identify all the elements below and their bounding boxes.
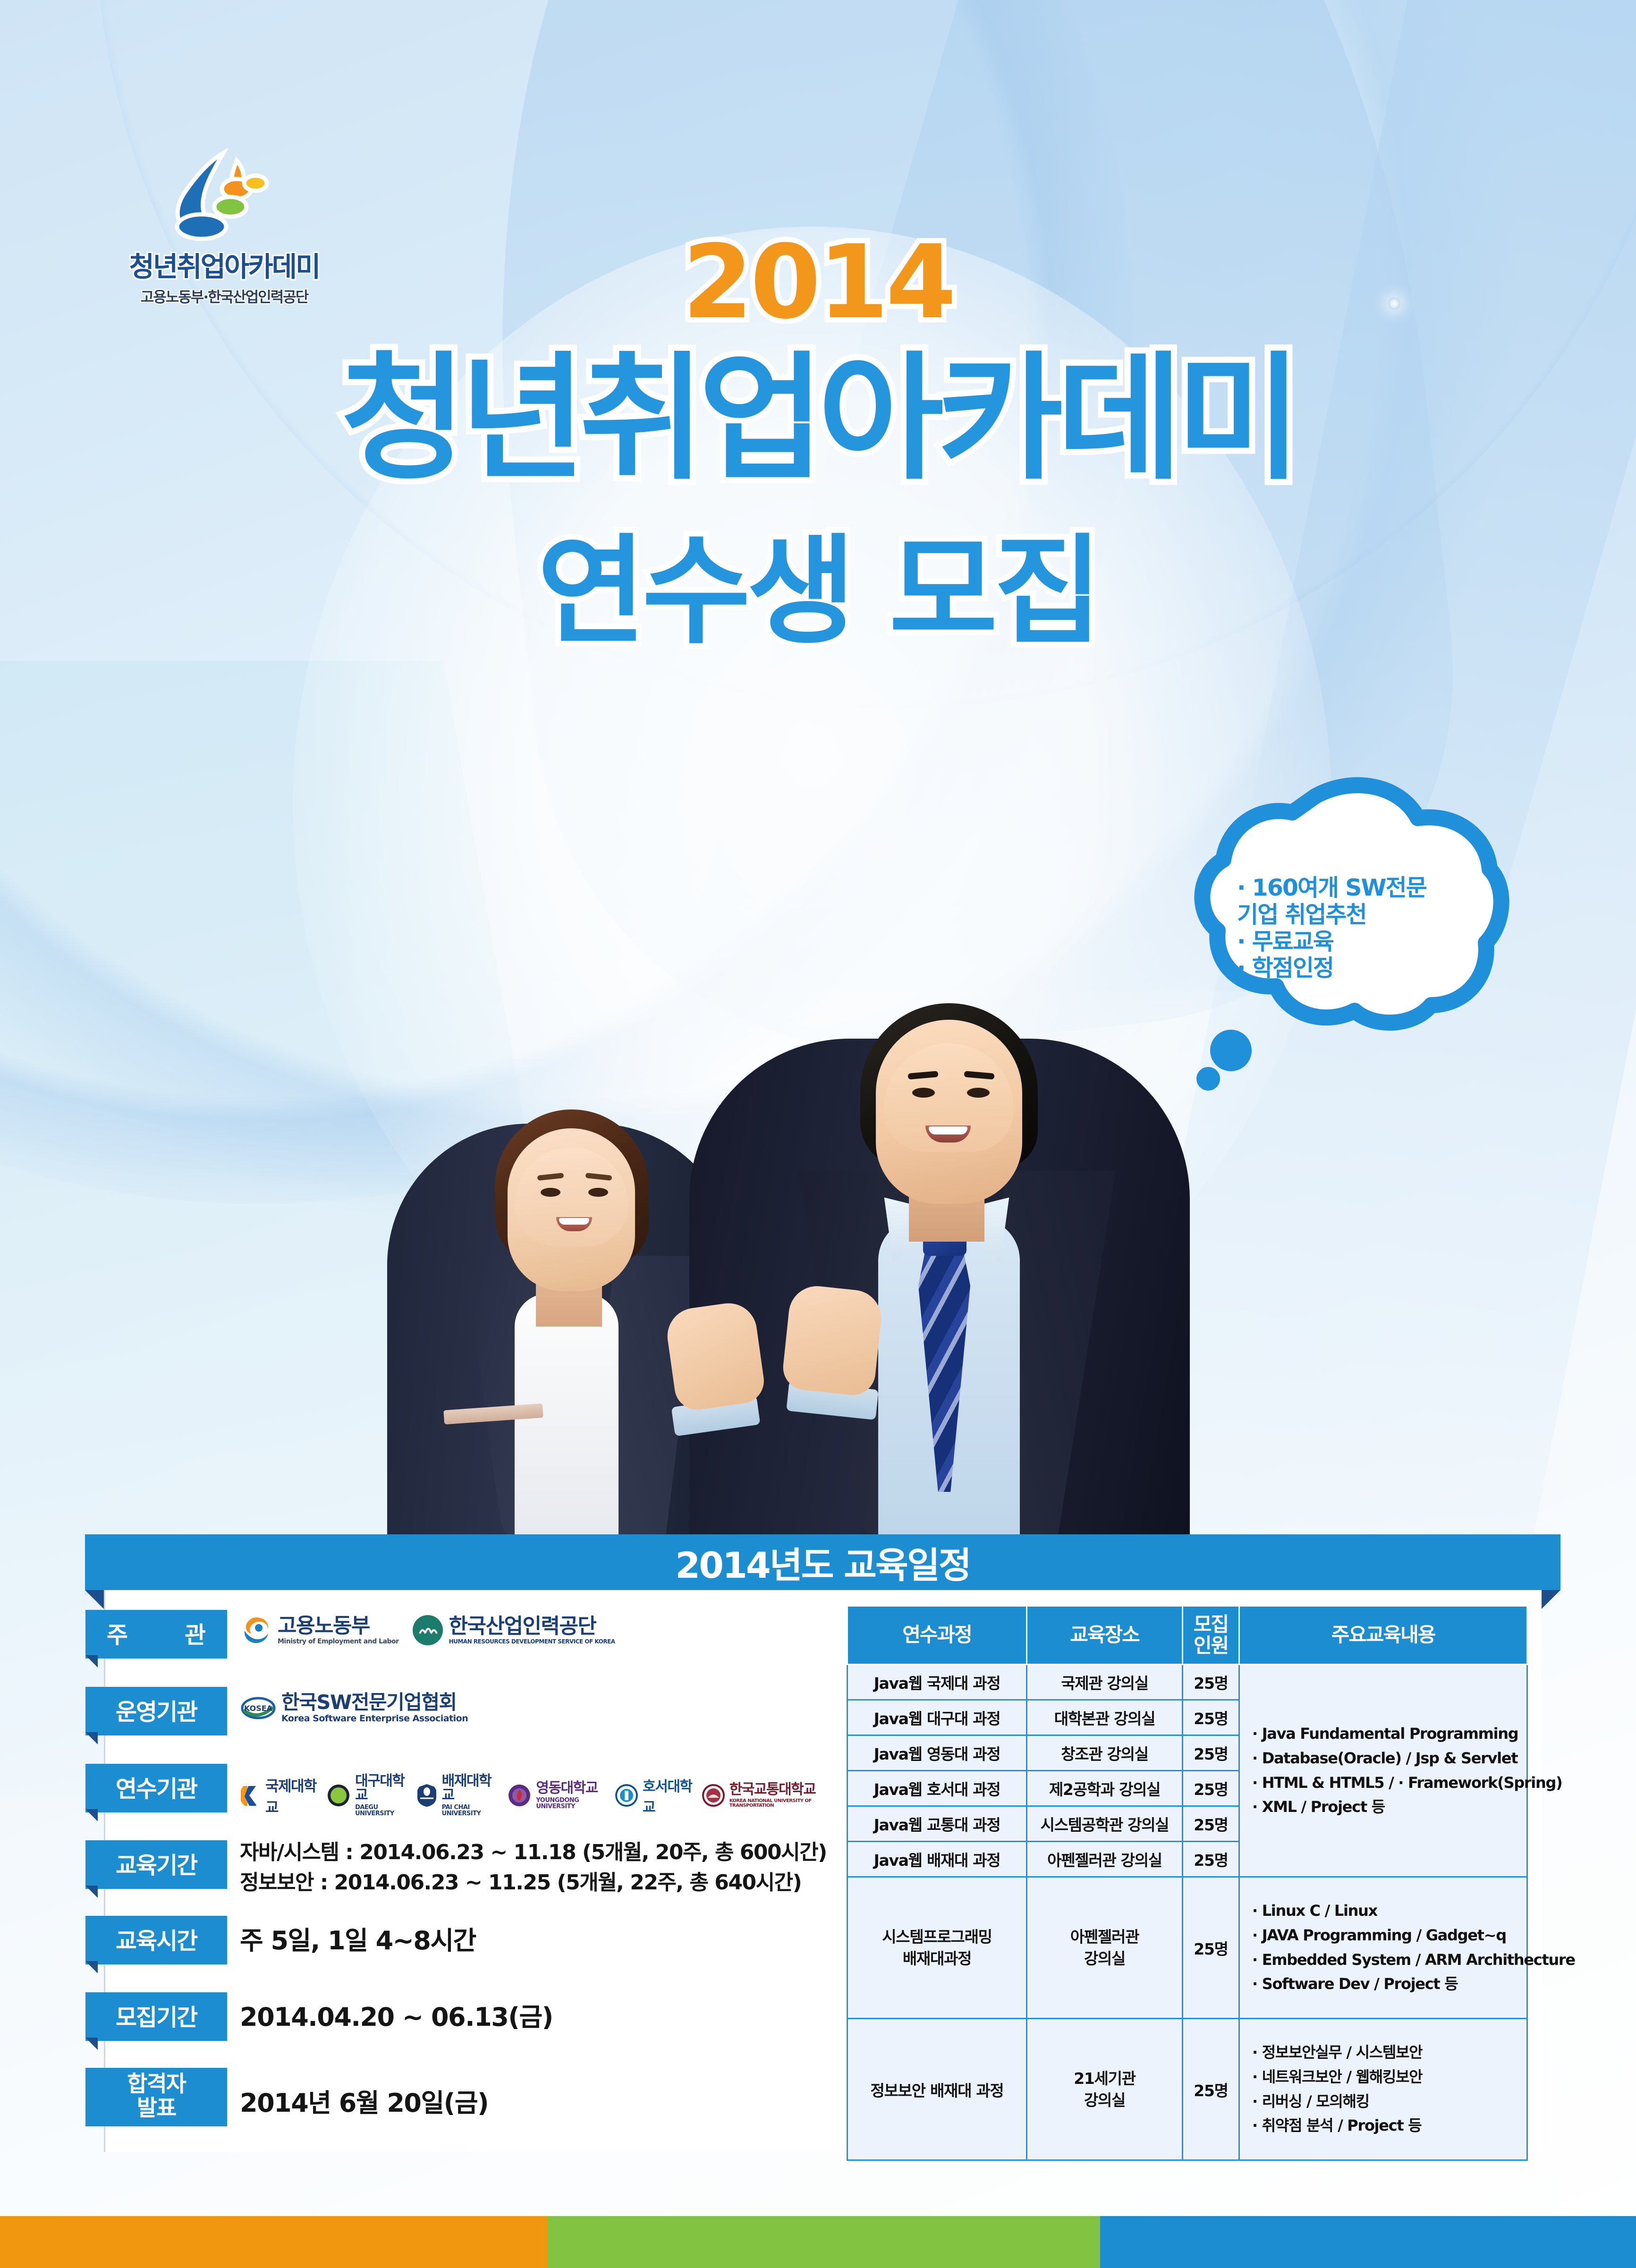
cell-course: Java웹 배재대 과정 xyxy=(848,1842,1027,1877)
people-photo xyxy=(359,727,1237,1549)
table-header-capacity: 모집 인원 xyxy=(1183,1606,1239,1665)
logo-university-3-en: YOUNGDONG UNIVERSITY xyxy=(536,1797,609,1810)
logo-university-5: 한국교통대학교 KOREA NATIONAL UNIVERSITY OF TRA… xyxy=(702,1783,842,1808)
bubble-dot-small xyxy=(1196,1067,1220,1091)
info-label-training-institutions: 연수기관 xyxy=(85,1764,227,1812)
logo-hrdkorea-kr: 한국산업인력공단 xyxy=(449,1616,615,1637)
info-label-host-b: 관 xyxy=(185,1616,206,1650)
cell-course: Java웹 대구대 과정 xyxy=(848,1700,1027,1735)
logo-university-4-kr: 호서대학교 xyxy=(643,1775,695,1816)
system-content-line-4: · Software Dev / Project 등 xyxy=(1252,1972,1523,1997)
system-place-line2: 강의실 xyxy=(1031,1948,1178,1970)
info-label-application-period: 모집기간 xyxy=(85,1992,227,2041)
cell-capacity-security: 25명 xyxy=(1183,2019,1239,2160)
table-row-system: 시스템프로그래밍 배재대과정 아펜젤러관 강의실 25명 · Linux C /… xyxy=(848,1877,1527,2019)
cell-capacity: 25명 xyxy=(1183,1700,1239,1735)
kosea-emblem-icon: KOSEA xyxy=(240,1694,277,1722)
schedule-panel: 주관 고용노동부 Ministry of Employment and Labo… xyxy=(104,1590,1542,2152)
cell-content-security: · 정보보안실무 / 시스템보안 · 네트워크보안 / 웹해킹보안 · 리버싱 … xyxy=(1239,2019,1527,2160)
logo-university-3-kr: 영동대학교 xyxy=(536,1781,609,1795)
cell-place: 아펜젤러관 강의실 xyxy=(1027,1842,1183,1877)
bubble-dot-large xyxy=(1210,1030,1252,1071)
bubble-line-4: · 학점인정 xyxy=(1237,955,1459,982)
cell-content-java: · Java Fundamental Programming · Databas… xyxy=(1239,1665,1527,1877)
kukje-university-emblem-icon xyxy=(240,1783,261,1808)
footer-bar-orange xyxy=(0,2216,548,2268)
logo-kosea-en: Korea Software Enterprise Association xyxy=(281,1714,468,1723)
cell-content-system: · Linux C / Linux · JAVA Programming / G… xyxy=(1239,1877,1527,2019)
system-content-line-2: · JAVA Programming / Gadget~q xyxy=(1252,1923,1523,1948)
logo-university-3: 영동대학교 YOUNGDONG UNIVERSITY xyxy=(508,1781,609,1810)
cell-course-security: 정보보안 배재대 과정 xyxy=(848,2019,1027,2160)
security-content-line-2: · 네트워크보안 / 웹해킹보안 xyxy=(1252,2065,1523,2090)
logo-kosea: KOSEA 한국SW전문기업협회 Korea Software Enterpri… xyxy=(240,1693,468,1723)
cell-place: 국제관 강의실 xyxy=(1027,1665,1183,1700)
thought-bubble: · 160여개 SW전문 기업 취업추천 · 무료교육 · 학점인정 xyxy=(1159,767,1518,1098)
course-table: 연수과정 교육장소 모집 인원 주요교육내용 Java웹 국제대 과정 국제관 … xyxy=(847,1605,1528,2161)
logo-moel-kr: 고용노동부 xyxy=(278,1616,399,1636)
training-period-line-2: 정보보안 : 2014.06.23 ~ 11.25 (5개월, 22주, 총 6… xyxy=(240,1868,827,1898)
info-value-training-hours: 주 5일, 1일 4~8시간 xyxy=(240,1922,476,1959)
security-content-line-3: · 리버싱 / 모의해킹 xyxy=(1252,2090,1523,2114)
info-value-announcement: 2014년 6월 20일(금) xyxy=(240,2085,488,2122)
schedule-banner-title: 2014년도 교육일정 xyxy=(675,1536,970,1588)
info-label-host-a: 주 xyxy=(107,1616,128,1650)
footer-color-bar xyxy=(0,2216,1636,2268)
logo-hrdkorea: 한국산업인력공단 HUMAN RESOURCES DEVELOPMENT SER… xyxy=(411,1614,615,1647)
info-label-announcement-line1: 합격자 xyxy=(85,2073,227,2097)
system-course-line2: 배재대과정 xyxy=(852,1948,1022,1970)
daegu-university-emblem-icon xyxy=(327,1784,350,1807)
bubble-line-1: · 160여개 SW전문 xyxy=(1237,875,1459,902)
cell-place: 제2공학과 강의실 xyxy=(1027,1771,1183,1806)
cell-course: Java웹 호서대 과정 xyxy=(848,1771,1027,1806)
logo-university-2: 배재대학교 PAI CHAI UNIVERSITY xyxy=(416,1774,501,1817)
hrdkorea-emblem-icon xyxy=(411,1614,444,1647)
youngdong-university-emblem-icon xyxy=(508,1784,531,1807)
table-header-course: 연수과정 xyxy=(848,1606,1027,1665)
java-content-line-2: · Database(Oracle) / Jsp & Servlet xyxy=(1252,1746,1523,1771)
java-content-line-3: · HTML & HTML5 / · Framework(Spring) xyxy=(1252,1771,1523,1795)
info-value-application-period: 2014.04.20 ~ 06.13(금) xyxy=(240,1999,553,2036)
java-content-line-1: · Java Fundamental Programming xyxy=(1252,1722,1523,1746)
logo-university-4: 호서대학교 xyxy=(615,1775,695,1816)
footer-bar-green xyxy=(548,2216,1100,2268)
poster-root: 청년취업아카데미 고용노동부·한국산업인력공단 2014 청년취업아카데미 연수… xyxy=(0,0,1636,2268)
cell-capacity: 25명 xyxy=(1183,1735,1239,1771)
info-label-announcement-line2: 발표 xyxy=(85,2097,227,2121)
cell-place: 창조관 강의실 xyxy=(1027,1735,1183,1771)
cell-course-system: 시스템프로그래밍 배재대과정 xyxy=(848,1877,1027,2019)
security-content-line-1: · 정보보안실무 / 시스템보안 xyxy=(1252,2040,1523,2065)
host-logos: 고용노동부 Ministry of Employment and Labor xyxy=(240,1614,615,1647)
table-header-capacity-line2: 인원 xyxy=(1185,1635,1237,1657)
bubble-text: · 160여개 SW전문 기업 취업추천 · 무료교육 · 학점인정 xyxy=(1237,875,1459,982)
table-row-security: 정보보안 배재대 과정 21세기관 강의실 25명 · 정보보안실무 / 시스템… xyxy=(848,2019,1527,2160)
info-label-host: 주관 xyxy=(85,1610,227,1659)
logo-university-2-kr: 배재대학교 xyxy=(442,1774,501,1803)
training-period-line-1: 자바/시스템 : 2014.06.23 ~ 11.18 (5개월, 20주, 총… xyxy=(240,1837,827,1868)
logo-university-5-kr: 한국교통대학교 xyxy=(729,1783,842,1797)
info-label-training-period: 교육기간 xyxy=(85,1840,227,1889)
headline-main: 청년취업아카데미 xyxy=(0,349,1636,489)
paichai-university-emblem-icon xyxy=(416,1783,437,1808)
bubble-line-2: 기업 취업추천 xyxy=(1237,902,1459,929)
logo-university-2-en: PAI CHAI UNIVERSITY xyxy=(442,1804,501,1817)
svg-text:KOSEA: KOSEA xyxy=(244,1704,273,1713)
logo-kosea-kr: 한국SW전문기업협회 xyxy=(281,1693,468,1712)
headline-year: 2014 xyxy=(0,231,1636,333)
cell-place: 시스템공학관 강의실 xyxy=(1027,1806,1183,1842)
table-header-content: 주요교육내용 xyxy=(1239,1606,1527,1665)
logo-university-1-kr: 대구대학교 xyxy=(355,1774,410,1803)
knut-university-emblem-icon xyxy=(702,1784,725,1807)
schedule-banner: 2014년도 교육일정 xyxy=(85,1534,1560,1590)
water-drop-logo-icon xyxy=(144,142,305,241)
moel-emblem-icon xyxy=(240,1614,273,1647)
bubble-line-3: · 무료교육 xyxy=(1237,929,1459,956)
info-label-announcement: 합격자 발표 xyxy=(85,2068,227,2126)
cell-place: 대학본관 강의실 xyxy=(1027,1700,1183,1735)
cell-capacity: 25명 xyxy=(1183,1665,1239,1700)
system-place-line1: 아펜젤러관 xyxy=(1031,1926,1178,1948)
logo-moel: 고용노동부 Ministry of Employment and Labor xyxy=(240,1614,399,1647)
banner-fold-right xyxy=(1542,1590,1560,1609)
cell-course: Java웹 교통대 과정 xyxy=(848,1806,1027,1842)
cell-course: Java웹 영동대 과정 xyxy=(848,1735,1027,1771)
logo-university-0-kr: 국제대학교 xyxy=(265,1774,320,1817)
info-label-operator: 운영기관 xyxy=(85,1687,227,1735)
cell-capacity: 25명 xyxy=(1183,1842,1239,1877)
hoseo-university-emblem-icon xyxy=(615,1784,638,1807)
table-header-row: 연수과정 교육장소 모집 인원 주요교육내용 xyxy=(848,1606,1527,1665)
operator-logos: KOSEA 한국SW전문기업협회 Korea Software Enterpri… xyxy=(240,1693,468,1723)
logo-university-5-en: KOREA NATIONAL UNIVERSITY OF TRANSPORTAT… xyxy=(729,1799,842,1808)
info-value-training-period: 자바/시스템 : 2014.06.23 ~ 11.18 (5개월, 20주, 총… xyxy=(240,1837,827,1898)
java-content-line-4: · XML / Project 등 xyxy=(1252,1795,1523,1819)
logo-university-1-en: DAEGU UNIVERSITY xyxy=(355,1804,410,1817)
cell-course: Java웹 국제대 과정 xyxy=(848,1665,1027,1700)
logo-moel-en: Ministry of Employment and Labor xyxy=(278,1638,399,1645)
security-content-line-4: · 취약점 분석 / Project 등 xyxy=(1252,2114,1523,2138)
logo-university-0: 국제대학교 xyxy=(240,1774,320,1817)
table-header-capacity-line1: 모집 xyxy=(1185,1614,1237,1635)
cell-capacity: 25명 xyxy=(1183,1806,1239,1842)
system-content-line-1: · Linux C / Linux xyxy=(1252,1899,1523,1923)
info-label-training-hours: 교육시간 xyxy=(85,1916,227,1964)
table-row: Java웹 국제대 과정 국제관 강의실 25명 · Java Fundamen… xyxy=(848,1665,1527,1700)
university-logos: 국제대학교 대구대학교 DAEGU UNIVERSITY xyxy=(240,1774,842,1817)
system-content-line-3: · Embedded System / ARM Archithecture xyxy=(1252,1948,1523,1972)
info-column: 주관 고용노동부 Ministry of Employment and Labo… xyxy=(105,1590,842,2152)
footer-bar-blue xyxy=(1100,2216,1636,2268)
cell-capacity-system: 25명 xyxy=(1183,1877,1239,2019)
cell-capacity: 25명 xyxy=(1183,1771,1239,1806)
cell-place-system: 아펜젤러관 강의실 xyxy=(1027,1877,1183,2019)
system-course-line1: 시스템프로그래밍 xyxy=(852,1926,1022,1948)
banner-fold-left xyxy=(85,1590,104,1609)
cell-place-security: 21세기관 강의실 xyxy=(1027,2019,1183,2160)
headline-sub: 연수생 모집 xyxy=(0,531,1636,652)
logo-university-1: 대구대학교 DAEGU UNIVERSITY xyxy=(327,1774,410,1817)
table-header-place: 교육장소 xyxy=(1027,1606,1183,1665)
security-place-line2: 강의실 xyxy=(1031,2090,1178,2111)
security-place-line1: 21세기관 xyxy=(1031,2068,1178,2090)
logo-hrdkorea-en: HUMAN RESOURCES DEVELOPMENT SERVICE OF K… xyxy=(449,1639,615,1644)
